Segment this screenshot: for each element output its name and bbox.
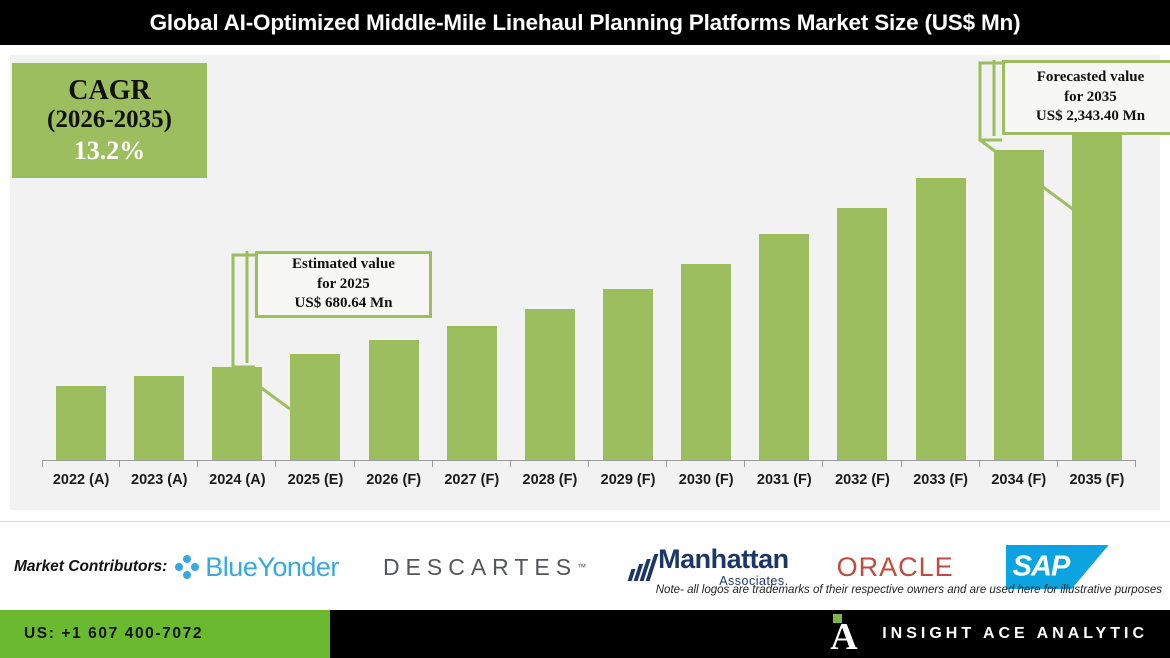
bar-column — [902, 55, 980, 460]
descartes-logo: DESCARTES ™ — [383, 554, 586, 581]
bar — [837, 208, 887, 460]
x-axis-label: 2025 (E) — [276, 467, 354, 497]
x-axis-tick — [666, 460, 667, 467]
x-axis-tick — [744, 460, 745, 467]
x-axis-tick — [901, 460, 902, 467]
contributors-note: Note- all logos are trademarks of their … — [656, 584, 1162, 596]
footer-phone-band: US: +1 607 400-7072 — [0, 610, 330, 658]
bar — [916, 178, 966, 460]
bar-column — [511, 55, 589, 460]
forecast-callout-line1: Forecasted value — [1037, 68, 1145, 88]
x-axis-label: 2028 (F) — [511, 467, 589, 497]
oracle-logo: ORACLE — [837, 552, 954, 583]
bar-column — [589, 55, 667, 460]
x-axis-tick — [588, 460, 589, 467]
brand-letter: A — [830, 622, 857, 652]
x-axis-tick — [510, 460, 511, 467]
bar — [369, 340, 419, 460]
footer-brand: A INSIGHT ACE ANALYTIC — [830, 610, 1148, 658]
x-axis-tick — [979, 460, 980, 467]
bar — [681, 264, 731, 460]
bar-column — [433, 55, 511, 460]
descartes-logo-text: DESCARTES — [383, 554, 577, 581]
blueyonder-logo: BlueYonder — [175, 552, 339, 583]
x-axis-label: 2030 (F) — [667, 467, 745, 497]
x-axis-line — [42, 460, 1136, 461]
blueyonder-logo-text: BlueYonder — [205, 552, 339, 583]
descartes-tm-icon: ™ — [577, 562, 586, 572]
forecasted-value-callout: Forecasted value for 2035 US$ 2,343.40 M… — [1002, 60, 1170, 135]
manhattan-logo-text: Manhattan — [658, 546, 789, 573]
sap-logo: SAP — [1006, 545, 1109, 589]
chart-panel: CAGR (2026-2035) 13.2% 2022 (A)2023 (A)2… — [10, 55, 1160, 510]
manhattan-logo: Manhattan Associates. — [632, 546, 789, 588]
x-axis-label: 2027 (F) — [433, 467, 511, 497]
bar-column — [120, 55, 198, 460]
x-axis-label: 2033 (F) — [902, 467, 980, 497]
x-axis-label: 2032 (F) — [823, 467, 901, 497]
title-bar: Global AI-Optimized Middle-Mile Linehaul… — [0, 0, 1170, 45]
forecast-callout-line2: for 2035 — [1064, 88, 1117, 108]
x-axis-label: 2031 (F) — [745, 467, 823, 497]
x-axis-tick — [42, 460, 43, 467]
x-axis-tick — [119, 460, 120, 467]
forecast-callout-line3: US$ 2,343.40 Mn — [1036, 107, 1145, 127]
x-axis-label: 2022 (A) — [42, 467, 120, 497]
x-axis-tick — [197, 460, 198, 467]
x-axis-tick — [275, 460, 276, 467]
x-axis-label: 2023 (A) — [120, 467, 198, 497]
insightace-logo-icon: A — [830, 616, 858, 652]
x-axis-label: 2035 (F) — [1058, 467, 1136, 497]
brand-name: INSIGHT ACE ANALYTIC — [882, 625, 1148, 643]
bar — [603, 289, 653, 460]
bar — [447, 326, 497, 460]
bar-column — [823, 55, 901, 460]
bar — [759, 234, 809, 460]
x-axis-tick — [1057, 460, 1058, 467]
estimated-callout-line1: Estimated value — [292, 255, 395, 275]
bar — [525, 309, 575, 460]
x-axis-labels: 2022 (A)2023 (A)2024 (A)2025 (E)2026 (F)… — [42, 467, 1136, 497]
market-contributors-strip: Market Contributors: BlueYonder DESCARTE… — [0, 521, 1170, 610]
blueyonder-mark-icon — [175, 555, 199, 579]
page-title: Global AI-Optimized Middle-Mile Linehaul… — [150, 10, 1021, 36]
contributors-label: Market Contributors: — [14, 558, 167, 576]
footer-bar: US: +1 607 400-7072 A INSIGHT ACE ANALYT… — [0, 610, 1170, 658]
x-axis-tick — [354, 460, 355, 467]
bar — [56, 386, 106, 460]
x-axis-tick — [822, 460, 823, 467]
sap-logo-text: SAP — [1013, 551, 1070, 584]
x-axis-label: 2024 (A) — [198, 467, 276, 497]
oracle-logo-text: ORACLE — [837, 552, 954, 583]
x-axis-tick — [432, 460, 433, 467]
estimated-callout-line3: US$ 680.64 Mn — [295, 294, 393, 314]
x-axis-label: 2029 (F) — [589, 467, 667, 497]
x-axis-label: 2026 (F) — [355, 467, 433, 497]
bar-column — [745, 55, 823, 460]
estimated-callout-line2: for 2025 — [317, 275, 370, 295]
footer-phone-number[interactable]: US: +1 607 400-7072 — [24, 625, 203, 643]
estimated-value-callout: Estimated value for 2025 US$ 680.64 Mn — [255, 251, 432, 318]
x-axis-tick — [1135, 460, 1136, 467]
bar — [134, 376, 184, 460]
bar-column — [42, 55, 120, 460]
bar-column — [667, 55, 745, 460]
manhattan-mark-icon — [628, 554, 659, 581]
x-axis-label: 2034 (F) — [980, 467, 1058, 497]
